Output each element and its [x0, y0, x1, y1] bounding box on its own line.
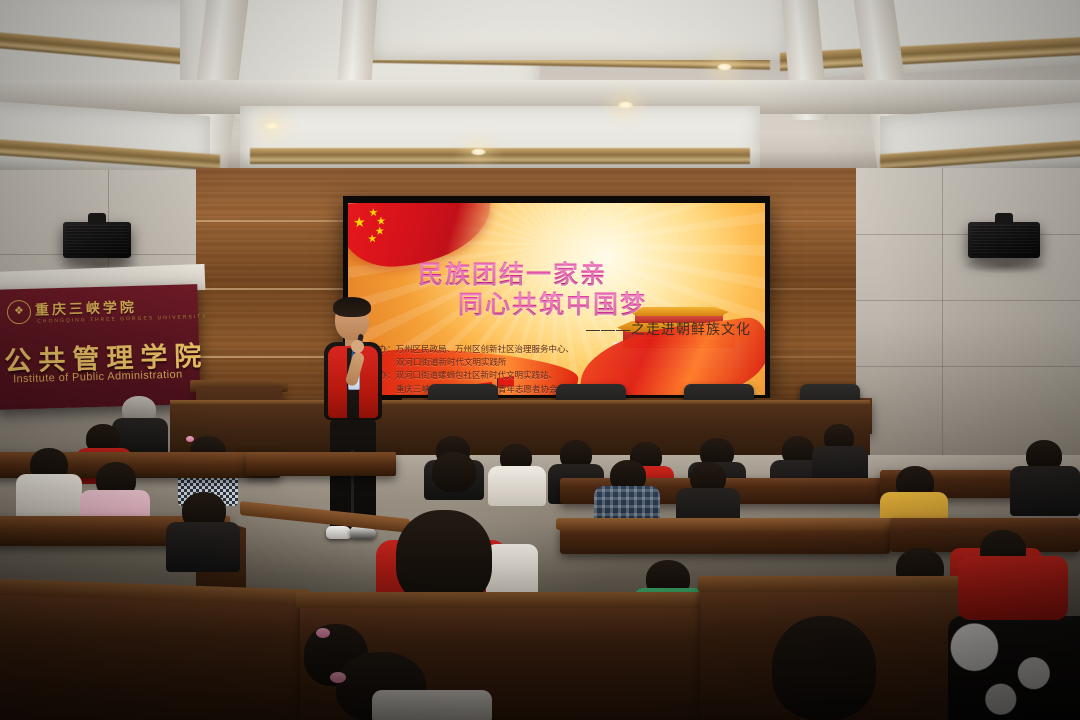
speaker-grill: [971, 225, 1037, 255]
audience-person: [16, 474, 82, 520]
bench-top-rail: [296, 592, 726, 608]
bench-top-rail: [556, 518, 896, 530]
organizer-line: 双河口街道新时代文明实践所: [370, 356, 574, 369]
wall-speaker-right: [968, 222, 1040, 258]
university-banner: ❖ 重庆三峡学院 CHONGQING THREE GORGES UNIVERSI…: [0, 284, 201, 410]
ceiling: [0, 0, 1080, 190]
downlight: [716, 63, 733, 71]
university-logo-icon: ❖: [7, 300, 32, 325]
foreground-child-body: [372, 690, 492, 720]
audience-person: [166, 522, 240, 572]
hair-tie: [186, 436, 194, 442]
foreground-child-coat: [958, 556, 1068, 620]
audience-head: [432, 452, 476, 492]
organizer-line: 承办：双河口街道螺蛳包社区新时代文明实践站、: [370, 370, 557, 380]
ceiling-panel: [370, 0, 790, 60]
speaker-mount: [995, 213, 1013, 224]
right-wall: [846, 168, 1080, 478]
slide-subtitle: ———之走进朝鲜族文化: [586, 319, 751, 339]
bench-desk: [246, 452, 396, 476]
organizer-line: 主办：万州区民政局、万州区创新社区治理服务中心、: [370, 344, 574, 354]
wall-speaker-left: [63, 222, 131, 258]
speaker-grill: [66, 225, 128, 255]
presenter-shoe: [326, 526, 352, 539]
slide-title-line2: 同心共筑中国梦: [458, 285, 647, 321]
downlight: [263, 122, 280, 130]
audience-person: [488, 466, 546, 506]
auditorium-photo: ❖ 重庆三峡学院 CHONGQING THREE GORGES UNIVERSI…: [0, 0, 1080, 720]
presentation-slide: ★ ★ ★ ★ ★ 民族团结一家亲 同心共筑中国梦 ———之走: [348, 203, 765, 395]
foreground-bench: [0, 592, 300, 720]
speaker-shadow: [962, 256, 1050, 274]
audience-person: [1010, 466, 1080, 516]
foreground-child-jacket: [948, 616, 1080, 720]
hair-tie: [330, 672, 346, 683]
downlight: [617, 101, 634, 109]
hair-tie: [316, 628, 330, 638]
projection-screen-frame: ★ ★ ★ ★ ★ 民族团结一家亲 同心共筑中国梦 ———之走: [343, 196, 770, 401]
speaker-mount: [88, 213, 106, 224]
presenter-hair: [333, 297, 371, 317]
presenter-hand: [351, 340, 364, 353]
foreground-child-head: [772, 616, 876, 720]
